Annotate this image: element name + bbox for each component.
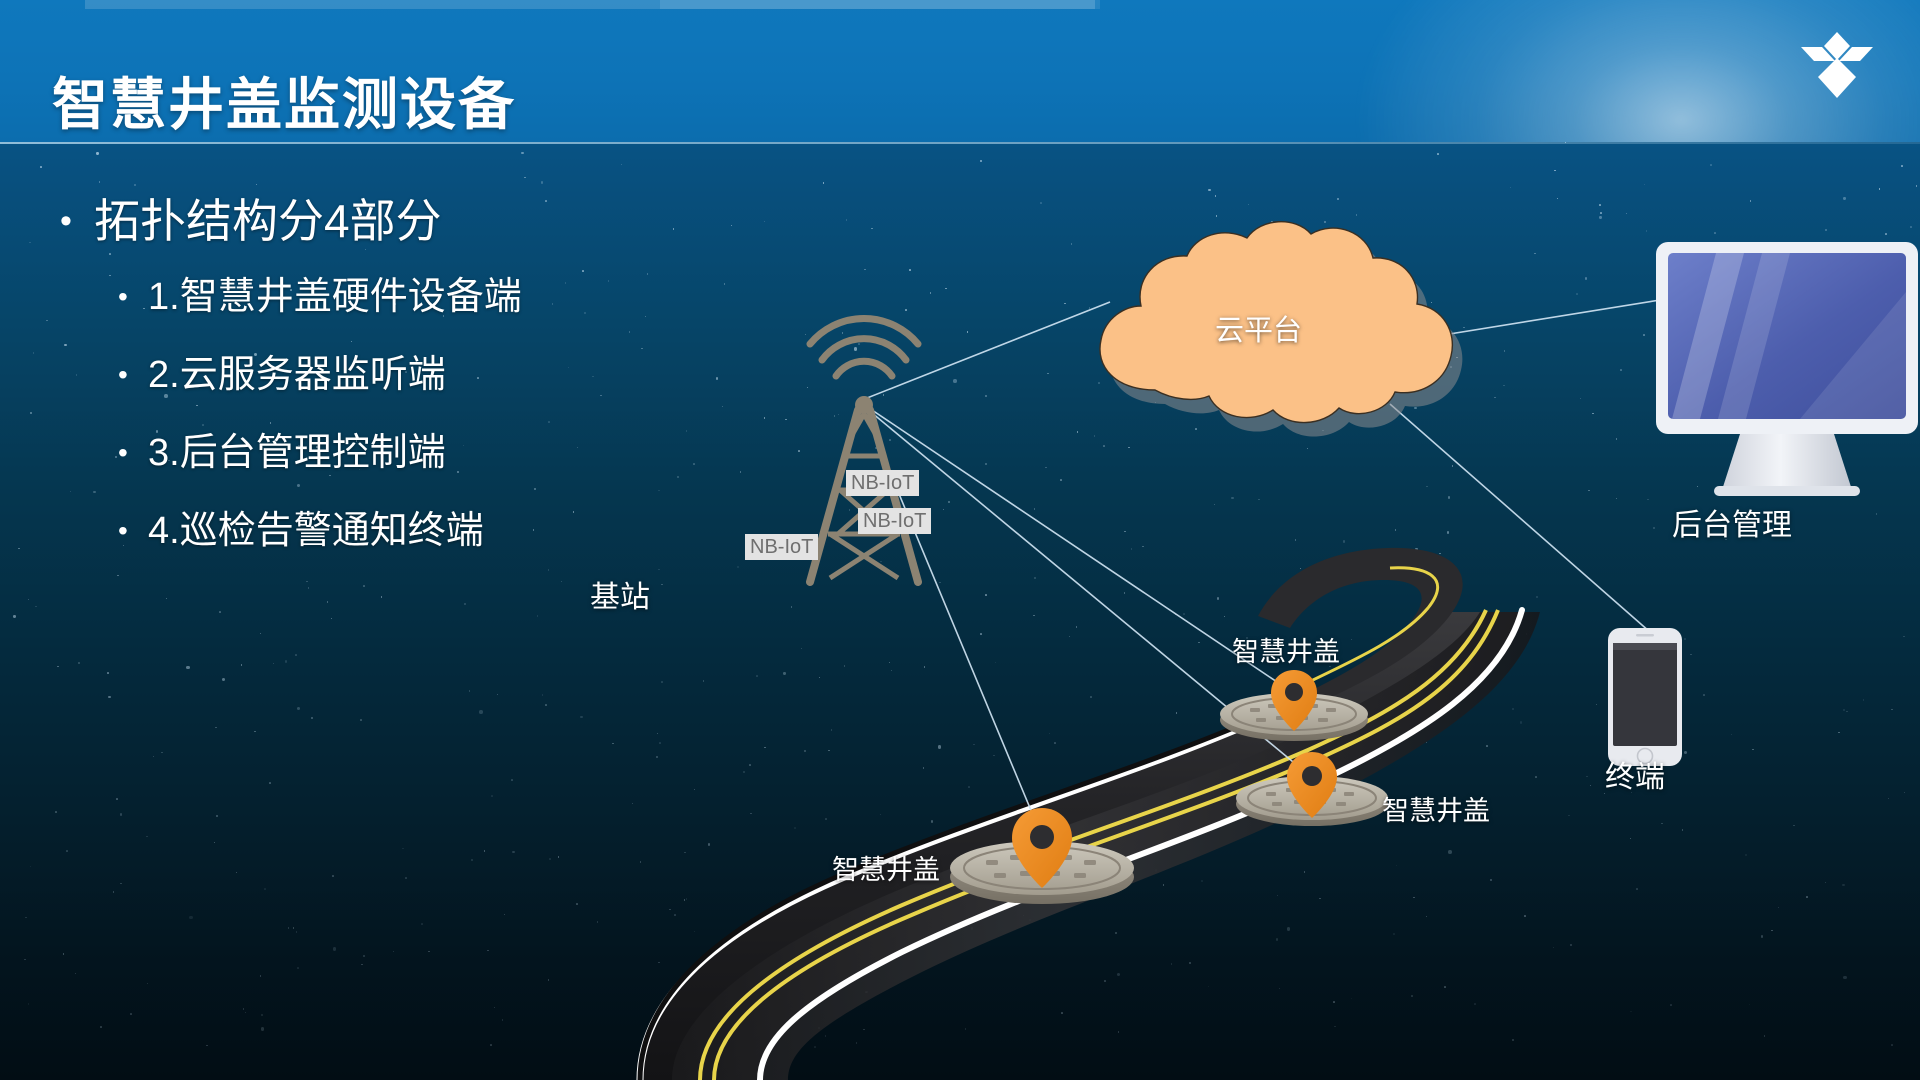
manhole-label-3: 智慧井盖: [832, 854, 940, 886]
manhole-label-2: 智慧井盖: [1382, 795, 1490, 827]
topology-diagram: 云平台 基: [0, 142, 1920, 1080]
manhole-label-1: 智慧井盖: [1232, 636, 1340, 668]
manhole-cover-icon-1: [1220, 670, 1368, 741]
slide-root: 智慧井盖监测设备 • 拓扑结构分4部分 • 1.智慧井盖硬件设备端 • 2.云服…: [0, 0, 1920, 1080]
crown-diamond-logo-icon: [1798, 30, 1876, 102]
manhole-covers-group: [0, 142, 1920, 1080]
manhole-cover-icon-2: [1236, 752, 1388, 826]
header-top-strip-secondary: [660, 0, 1100, 9]
page-title: 智慧井盖监测设备: [52, 70, 516, 140]
manhole-cover-icon-3: [950, 808, 1134, 904]
